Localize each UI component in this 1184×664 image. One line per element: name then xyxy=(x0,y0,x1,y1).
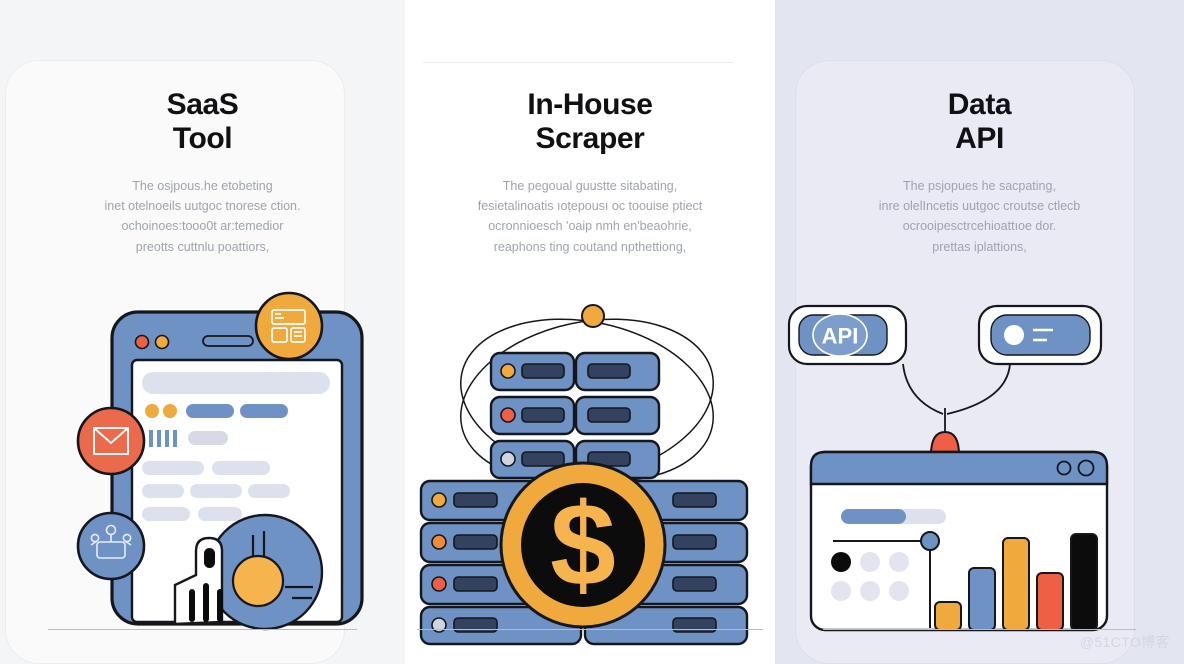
server-slot xyxy=(588,408,630,422)
grid-dot xyxy=(889,581,909,601)
illustration-amber-disc xyxy=(233,556,283,606)
screen-bar-4 xyxy=(173,430,177,447)
server-led xyxy=(501,408,515,422)
server-unit xyxy=(491,353,659,390)
building-bar-3 xyxy=(217,589,223,622)
screen-dot-amber-2 xyxy=(163,404,177,418)
ground-line xyxy=(417,629,763,630)
chart-bar xyxy=(1037,573,1063,630)
progress-fill xyxy=(841,509,906,524)
badge-team xyxy=(78,513,144,579)
screen-text-row xyxy=(142,507,190,521)
server-slot xyxy=(454,577,497,591)
list-chip-card xyxy=(979,306,1101,364)
server-unit xyxy=(491,397,659,434)
connector-left xyxy=(903,364,943,414)
screen-pill-grey-1 xyxy=(188,431,228,445)
orbit-node-dot xyxy=(582,305,604,327)
data-api-illustration: API xyxy=(775,0,1184,664)
connector-right xyxy=(947,364,1010,414)
ground-line xyxy=(48,629,357,630)
server-slot xyxy=(673,535,716,549)
dashboard-icon-circle xyxy=(256,293,322,359)
panel-data-api: Data API The psjopues he sacpating, inre… xyxy=(775,0,1184,664)
screen-text-row xyxy=(248,484,290,498)
api-chip-card: API xyxy=(789,306,906,364)
grid-dot xyxy=(831,581,851,601)
team-icon-circle xyxy=(78,513,144,579)
chart-bar xyxy=(1071,534,1097,630)
building-bar-1 xyxy=(189,589,195,622)
screen-text-row xyxy=(142,461,204,475)
screen-bar-1 xyxy=(149,430,153,447)
infographic-canvas: SaaS Tool The osjpous.he etobeting inet … xyxy=(0,0,1184,664)
server-slot xyxy=(673,493,716,507)
screen-text-row xyxy=(190,484,242,498)
browser-window xyxy=(811,452,1107,630)
screen-bar-2 xyxy=(157,430,161,447)
chart-bar xyxy=(1003,538,1029,630)
panel-in-house-scraper: In-House Scraper The pegoual guustte sit… xyxy=(405,0,775,664)
list-chip-dot xyxy=(1004,325,1024,345)
server-led xyxy=(432,535,446,549)
server-slot xyxy=(454,493,497,507)
screen-pill-blue-1 xyxy=(186,404,234,418)
server-led xyxy=(432,493,446,507)
screen-dot-amber-1 xyxy=(145,404,159,418)
api-chip-label: API xyxy=(822,324,859,349)
dollar-coin: $ xyxy=(501,463,665,627)
marker-dot xyxy=(921,532,939,550)
grid-dot-active xyxy=(831,552,851,572)
server-slot xyxy=(522,408,564,422)
tablet-camera-dot-amber xyxy=(156,336,169,349)
building-window xyxy=(204,548,215,568)
coin-symbol: $ xyxy=(550,479,616,611)
chart-bar xyxy=(935,602,961,630)
grid-dot xyxy=(889,552,909,572)
watermark-text: @51CTO博客 xyxy=(1080,632,1170,652)
screen-bar-3 xyxy=(165,430,169,447)
scraper-illustration: $ xyxy=(405,0,775,664)
screen-text-row xyxy=(198,507,242,521)
grid-dot xyxy=(860,581,880,601)
tablet-camera-dot-red xyxy=(136,336,149,349)
server-slot xyxy=(673,577,716,591)
server-led xyxy=(501,364,515,378)
tablet-speaker xyxy=(203,336,253,346)
server-slot xyxy=(522,452,564,466)
screen-pill-blue-2 xyxy=(240,404,288,418)
envelope-icon-circle xyxy=(78,408,144,474)
screen-search-bar xyxy=(142,372,330,394)
grid-dot xyxy=(860,552,880,572)
ground-line xyxy=(823,629,1136,630)
screen-text-row xyxy=(212,461,270,475)
screen-text-row xyxy=(142,484,184,498)
server-stack-upper xyxy=(491,353,659,478)
server-led xyxy=(432,577,446,591)
saas-tool-illustration xyxy=(0,0,405,664)
panel-saas-tool: SaaS Tool The osjpous.he etobeting inet … xyxy=(0,0,405,664)
server-slot xyxy=(522,364,564,378)
server-slot xyxy=(454,535,497,549)
building-bar-2 xyxy=(203,583,209,622)
server-slot xyxy=(588,364,630,378)
chart-bar xyxy=(969,568,995,630)
server-led xyxy=(501,452,515,466)
badge-dashboard xyxy=(256,293,322,359)
badge-envelope xyxy=(78,408,144,474)
